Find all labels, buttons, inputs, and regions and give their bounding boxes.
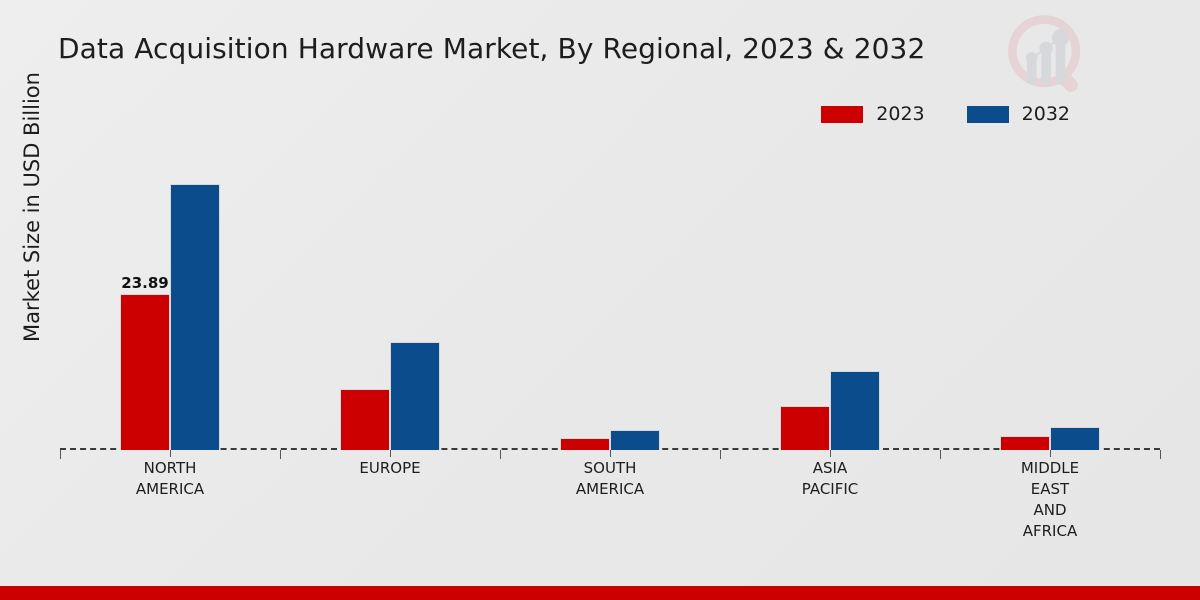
legend-item-2023[interactable]: 2023 xyxy=(821,103,924,125)
bar-2023-middle-east-and-africa[interactable] xyxy=(1000,436,1050,450)
bar-2023-europe[interactable] xyxy=(340,389,390,450)
axis-tick-center xyxy=(830,450,831,457)
bar-2023-asia-pacific[interactable] xyxy=(780,406,830,450)
bar-pair xyxy=(60,150,280,450)
bar-2032-middle-east-and-africa[interactable] xyxy=(1050,427,1100,450)
bar-pair xyxy=(940,150,1160,450)
bar-pair xyxy=(280,150,500,450)
bar-2032-north-america[interactable] xyxy=(170,184,220,450)
legend-swatch-2032 xyxy=(967,106,1009,123)
bar-group: 23.89 xyxy=(60,150,280,450)
legend-item-2032[interactable]: 2032 xyxy=(967,103,1070,125)
y-axis-title: Market Size in USD Billion xyxy=(20,42,44,372)
watermark-logo xyxy=(1000,8,1096,104)
axis-tick-center xyxy=(390,450,391,457)
bar-group xyxy=(720,150,940,450)
bar-group xyxy=(500,150,720,450)
x-axis-category-labels: NORTHAMERICAEUROPESOUTHAMERICAASIAPACIFI… xyxy=(60,458,1160,542)
legend-swatch-2023 xyxy=(821,106,863,123)
chart-title: Data Acquisition Hardware Market, By Reg… xyxy=(58,32,998,65)
bar-group xyxy=(940,150,1160,450)
bar-2032-asia-pacific[interactable] xyxy=(830,371,880,450)
bar-2032-europe[interactable] xyxy=(390,342,440,450)
axis-tick xyxy=(1160,450,1161,459)
category-label: ASIAPACIFIC xyxy=(720,458,940,542)
axis-tick-center xyxy=(170,450,171,457)
axis-tick-center xyxy=(610,450,611,457)
chart-container: Data Acquisition Hardware Market, By Reg… xyxy=(0,0,1200,600)
legend-label-2032: 2032 xyxy=(1022,103,1070,125)
bar-2023-north-america[interactable] xyxy=(120,294,170,450)
bar-groups: 23.89 xyxy=(60,150,1160,450)
category-label: SOUTHAMERICA xyxy=(500,458,720,542)
bar-pair xyxy=(500,150,720,450)
chart-legend: 2023 2032 xyxy=(821,103,1070,125)
footer-accent-bar xyxy=(0,586,1200,600)
axis-tick-center xyxy=(1050,450,1051,457)
category-label: MIDDLEEASTANDAFRICA xyxy=(940,458,1160,542)
bar-group xyxy=(280,150,500,450)
category-label: EUROPE xyxy=(280,458,500,542)
bar-2023-south-america[interactable] xyxy=(560,438,610,450)
bar-pair xyxy=(720,150,940,450)
bar-2032-south-america[interactable] xyxy=(610,430,660,450)
category-label: NORTHAMERICA xyxy=(60,458,280,542)
plot-area: 23.89 NORTHAMERICAEUROPESOUTHAMERICAASIA… xyxy=(60,150,1160,450)
legend-label-2023: 2023 xyxy=(876,103,924,125)
